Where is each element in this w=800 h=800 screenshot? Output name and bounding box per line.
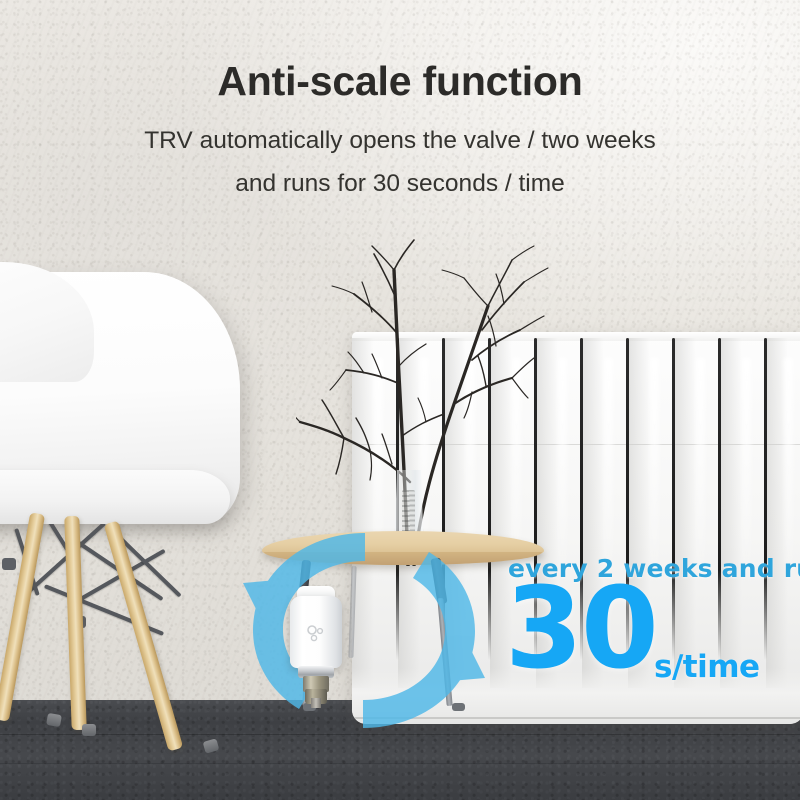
trv-pipe: [311, 698, 321, 708]
brand-logo-icon: [306, 624, 326, 644]
overlay-number: 30: [505, 573, 657, 685]
page-title: Anti-scale function: [0, 58, 800, 105]
radiator-fin-seam: [718, 338, 721, 660]
radiator-fin-shade: [720, 338, 742, 688]
subtitle-line-2: and runs for 30 seconds / time: [0, 170, 800, 198]
radiator-fin-shade: [674, 338, 696, 688]
chair-wire-hub: [2, 558, 16, 570]
subtitle-line-1: TRV automatically opens the valve / two …: [0, 127, 800, 155]
floor-seam: [0, 763, 800, 764]
product-feature-image: Anti-scale function TRV automatically op…: [0, 0, 800, 800]
radiator-fin-seam: [672, 338, 675, 660]
chair-leg-cap: [46, 713, 62, 727]
radiator-fin-seam: [764, 338, 767, 660]
trv-device: [288, 586, 344, 704]
overlay-unit: s/time: [654, 649, 760, 685]
decorative-branches: [296, 236, 564, 566]
rotation-arrows-icon: [219, 523, 509, 738]
chair-leg-cap: [82, 724, 96, 736]
